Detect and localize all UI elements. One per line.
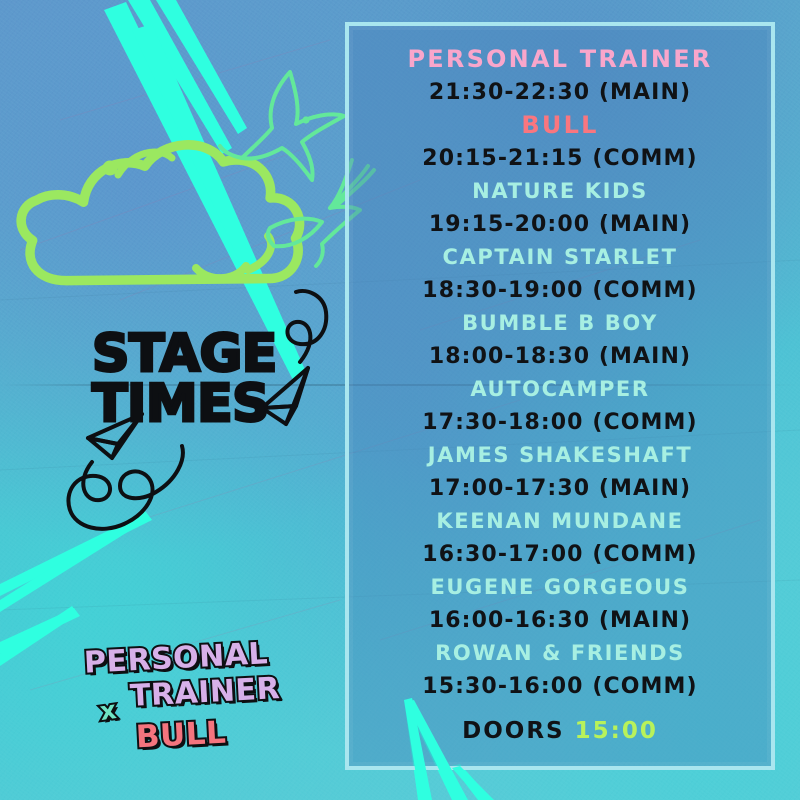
schedule-act-name: NATURE KIDS — [472, 175, 648, 208]
logo-separator-x: x — [98, 697, 118, 724]
schedule-act-name: ROWAN & FRIENDS — [435, 637, 685, 670]
cyan-streak-top-left — [104, 0, 306, 380]
poster-canvas: STAGE TIMES PERSONAL TRAINER x BULL PERS… — [0, 0, 800, 800]
swirl-loop-left — [68, 446, 182, 529]
schedule-time-slot: 18:30-19:00 (COMM) — [422, 274, 697, 307]
schedule-time-slot: 20:15-21:15 (COMM) — [422, 142, 697, 175]
schedule-act-name: AUTOCAMPER — [470, 373, 649, 406]
page-title-line-2: TIMES — [92, 380, 342, 430]
event-logo: PERSONAL TRAINER x BULL — [78, 644, 308, 764]
schedule-act-name: JAMES SHAKESHAFT — [428, 439, 693, 472]
schedule-act-name: CAPTAIN STARLET — [443, 241, 678, 274]
doors-row: DOORS 15:00 — [349, 718, 771, 744]
bird-doodle — [220, 72, 344, 180]
schedule-list: PERSONAL TRAINER21:30-22:30 (MAIN)BULL20… — [349, 26, 771, 766]
schedule-time-slot: 19:15-20:00 (MAIN) — [429, 208, 691, 241]
schedule-time-slot: 15:30-16:00 (COMM) — [422, 670, 697, 703]
schedule-act-name: PERSONAL TRAINER — [408, 43, 713, 76]
doors-label: DOORS — [462, 718, 564, 744]
schedule-panel: PERSONAL TRAINER21:30-22:30 (MAIN)BULL20… — [345, 22, 775, 770]
logo-word-trainer: TRAINER — [129, 674, 281, 712]
schedule-time-slot: 21:30-22:30 (MAIN) — [429, 76, 691, 109]
cloud-doodle — [21, 145, 299, 281]
schedule-act-name: BUMBLE B BOY — [462, 307, 658, 340]
schedule-time-slot: 17:30-18:00 (COMM) — [422, 406, 697, 439]
schedule-time-slot: 16:00-16:30 (MAIN) — [429, 604, 691, 637]
page-title-line-1: STAGE — [92, 330, 342, 380]
page-title: STAGE TIMES — [92, 330, 342, 430]
doors-time: 15:00 — [575, 718, 658, 744]
schedule-act-name: BULL — [521, 109, 598, 142]
logo-word-bull: BULL — [135, 718, 227, 754]
schedule-time-slot: 17:00-17:30 (MAIN) — [429, 472, 691, 505]
leaf-doodle — [268, 219, 322, 247]
schedule-act-name: EUGENE GORGEOUS — [430, 571, 689, 604]
schedule-time-slot: 18:00-18:30 (MAIN) — [429, 340, 691, 373]
schedule-time-slot: 16:30-17:00 (COMM) — [422, 538, 697, 571]
schedule-act-name: KEENAN MUNDANE — [436, 505, 683, 538]
